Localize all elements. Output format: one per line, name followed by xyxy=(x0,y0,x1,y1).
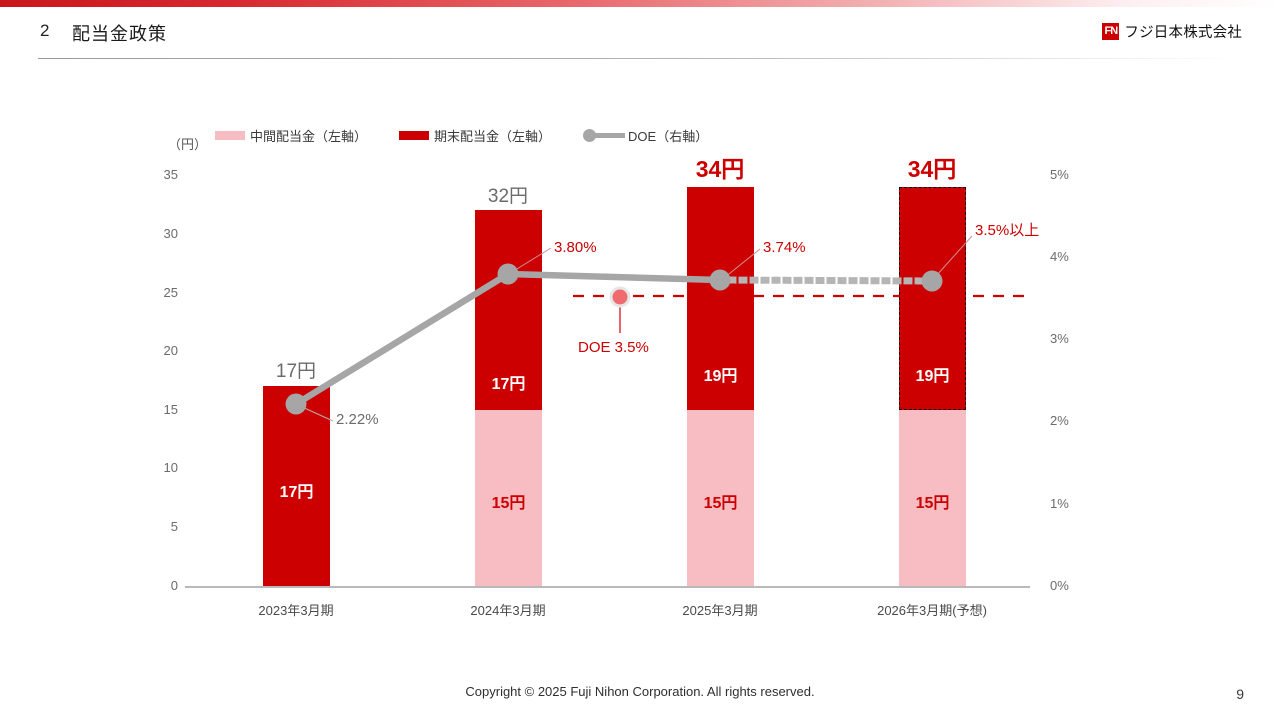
bar-label-final-2024: 17円 xyxy=(475,370,542,394)
bar-label-interim-2025: 15円 xyxy=(687,489,754,513)
legend-item-final: 期末配当金（左軸） xyxy=(399,126,551,145)
bar-2023[interactable]: 17円 xyxy=(263,386,330,586)
doe-target-label: DOE 3.5% xyxy=(578,339,649,356)
legend-item-interim: 中間配当金（左軸） xyxy=(215,126,367,145)
x-axis-line xyxy=(185,586,1030,588)
footer-copyright: Copyright © 2025 Fuji Nihon Corporation.… xyxy=(0,684,1280,699)
y2-tick-0: 0% xyxy=(1050,578,1069,593)
doe-target-marker xyxy=(611,288,629,306)
y-tick-0: 0 xyxy=(138,578,178,593)
bar-total-2025: 34円 xyxy=(635,150,805,184)
y-tick-5: 5 xyxy=(138,519,178,534)
chart-legend: 中間配当金（左軸） 期末配当金（左軸） DOE（右軸） xyxy=(215,126,740,144)
y-tick-20: 20 xyxy=(138,343,178,358)
legend-label-doe: DOE（右軸） xyxy=(628,126,708,145)
legend-swatch-final xyxy=(399,131,429,140)
doe-callout-2023: 2.22% xyxy=(336,411,379,428)
page-number: 9 xyxy=(1236,686,1244,702)
y2-tick-1: 1% xyxy=(1050,496,1069,511)
legend-label-interim: 中間配当金（左軸） xyxy=(250,126,367,145)
x-category-2026: 2026年3月期(予想) xyxy=(847,600,1017,619)
y-tick-35: 35 xyxy=(138,167,178,182)
bar-label-final-2026: 19円 xyxy=(899,362,966,386)
bar-label-final-2025: 19円 xyxy=(687,362,754,386)
x-category-2023: 2023年3月期 xyxy=(211,600,381,619)
y2-tick-5: 5% xyxy=(1050,167,1069,182)
x-category-2025: 2025年3月期 xyxy=(635,600,805,619)
bar-total-2023: 17円 xyxy=(211,356,381,383)
x-category-2024: 2024年3月期 xyxy=(423,600,593,619)
y-tick-10: 10 xyxy=(138,460,178,475)
doe-callout-2024: 3.80% xyxy=(554,239,597,256)
legend-swatch-interim xyxy=(215,131,245,140)
y-tick-25: 25 xyxy=(138,285,178,300)
doe-callout-2025: 3.74% xyxy=(763,239,806,256)
legend-item-doe: DOE（右軸） xyxy=(583,126,708,145)
y2-tick-2: 2% xyxy=(1050,413,1069,428)
bar-label-interim-2026: 15円 xyxy=(899,489,966,513)
bar-total-2024: 32円 xyxy=(423,181,593,208)
bar-2024[interactable]: 17円 15円 xyxy=(475,210,542,586)
y-axis-unit-label: （円） xyxy=(168,134,207,153)
bar-2025[interactable]: 19円 15円 xyxy=(687,187,754,586)
y-tick-30: 30 xyxy=(138,226,178,241)
y-tick-15: 15 xyxy=(138,402,178,417)
bar-label-interim-2024: 15円 xyxy=(475,489,542,513)
y2-tick-3: 3% xyxy=(1050,331,1069,346)
bar-2026-forecast[interactable]: 19円 15円 xyxy=(899,187,966,586)
y2-tick-4: 4% xyxy=(1050,249,1069,264)
dividend-chart: （円） 中間配当金（左軸） 期末配当金（左軸） DOE（右軸） 35 30 25… xyxy=(0,0,1280,720)
legend-label-final: 期末配当金（左軸） xyxy=(434,126,551,145)
bar-total-2026: 34円 xyxy=(847,150,1017,184)
doe-callout-2026: 3.5%以上 xyxy=(975,219,1039,240)
bar-label-final-2023: 17円 xyxy=(263,478,330,502)
legend-marker-doe xyxy=(583,128,625,142)
